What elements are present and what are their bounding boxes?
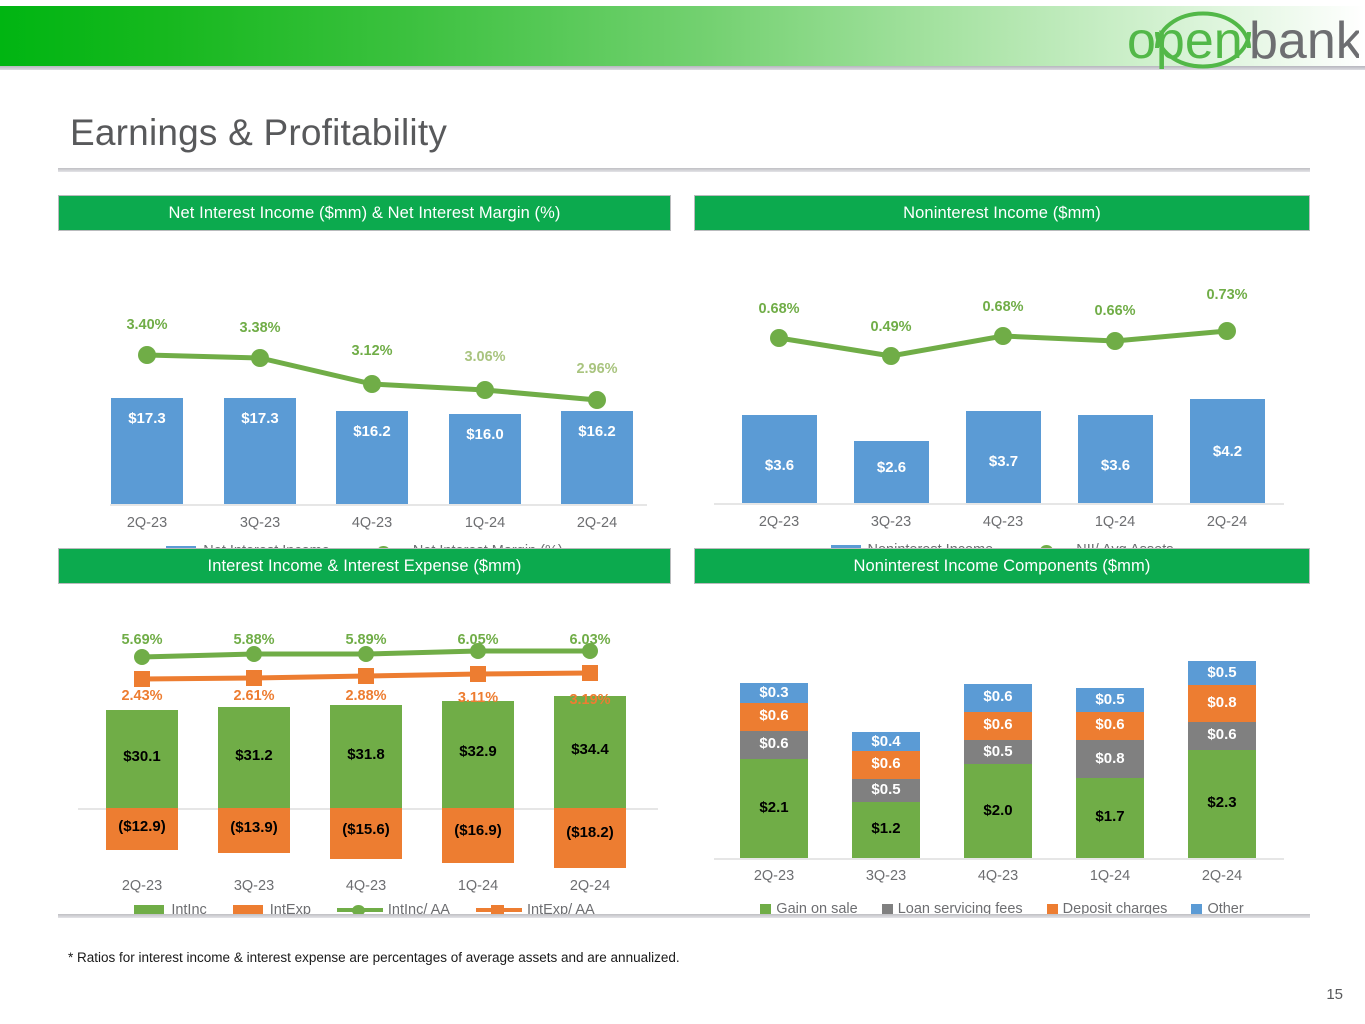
point-label-2Q-23: 0.68% [729, 301, 829, 317]
panel-net-interest-income: Net Interest Income ($mm) & Net Interest… [58, 195, 671, 535]
x-tick-2Q-23: 2Q-23 [724, 868, 824, 884]
nii-avg-assets-line-series [694, 231, 1310, 535]
intinc-aa-label-1Q-24: 6.05% [428, 632, 528, 648]
point-label-4Q-23: 0.68% [953, 299, 1053, 315]
intexp-aa-label-3Q-23: 2.61% [204, 688, 304, 704]
x-tick-4Q-23: 4Q-23 [948, 868, 1048, 884]
stack-4Q-23-loan-servicing-fees: $0.5 [964, 740, 1032, 764]
nim-line-series [58, 231, 671, 535]
x-tick-3Q-23: 3Q-23 [841, 514, 941, 530]
intinc-aa-label-2Q-23: 5.69% [92, 632, 192, 648]
point-label-2Q-24: 2.96% [547, 361, 647, 377]
chart-interest-income-expense: $30.1 $31.2 $31.8 $32.9 $34.4 ($12.9) [58, 584, 671, 898]
x-tick-2Q-24: 2Q-24 [1177, 514, 1277, 530]
panel-title-net-interest-income: Net Interest Income ($mm) & Net Interest… [58, 195, 671, 231]
page-title: Earnings & Profitability [70, 112, 447, 154]
stack-2Q-24-deposit-charges: $0.8 [1188, 685, 1256, 722]
point-label-1Q-24: 3.06% [435, 349, 535, 365]
stack-2Q-23-deposit-charges: $0.6 [740, 703, 808, 731]
page-number: 15 [1326, 986, 1343, 1003]
panel-title-noninterest-income: Noninterest Income ($mm) [694, 195, 1310, 231]
x-tick-2Q-24: 2Q-24 [540, 878, 640, 894]
x-tick-1Q-24: 1Q-24 [1060, 868, 1160, 884]
chart-noninterest-income-components: $2.1 $0.6 $0.6 $0.3 $1.2 $0.5 [694, 584, 1310, 898]
stack-1Q-24-gain-on-sale: $1.7 [1076, 778, 1144, 858]
stack-2Q-24-gain-on-sale: $2.3 [1188, 750, 1256, 858]
intexp-aa-label-1Q-24: 3.11% [428, 690, 528, 706]
point-label-2Q-24: 0.73% [1177, 287, 1277, 303]
stack-2Q-24-loan-servicing-fees: $0.6 [1188, 722, 1256, 750]
intexp-aa-label-2Q-24: 3.19% [540, 692, 640, 708]
stack-4Q-23-other: $0.6 [964, 684, 1032, 712]
x-tick-1Q-24: 1Q-24 [428, 878, 528, 894]
x-tick-3Q-23: 3Q-23 [210, 515, 310, 531]
stack-2Q-23-loan-servicing-fees: $0.6 [740, 731, 808, 759]
intinc-aa-label-4Q-23: 5.89% [316, 632, 416, 648]
x-tick-3Q-23: 3Q-23 [836, 868, 936, 884]
point-label-3Q-23: 0.49% [841, 319, 941, 335]
x-tick-1Q-24: 1Q-24 [1065, 514, 1165, 530]
point-label-4Q-23: 3.12% [322, 343, 422, 359]
stack-2Q-24-other: $0.5 [1188, 661, 1256, 685]
legend-swatch-square-icon [1047, 904, 1058, 915]
x-tick-4Q-23: 4Q-23 [953, 514, 1053, 530]
footer-divider [58, 914, 1310, 918]
stack-3Q-23-loan-servicing-fees: $0.5 [852, 779, 920, 802]
x-tick-2Q-23: 2Q-23 [92, 878, 192, 894]
footnote-text: * Ratios for interest income & interest … [68, 950, 680, 965]
x-tick-3Q-23: 3Q-23 [204, 878, 304, 894]
point-label-2Q-23: 3.40% [97, 317, 197, 333]
stack-2Q-23-gain-on-sale: $2.1 [740, 759, 808, 858]
x-tick-2Q-23: 2Q-23 [97, 515, 197, 531]
stack-1Q-24-other: $0.5 [1076, 688, 1144, 712]
point-label-3Q-23: 3.38% [210, 320, 310, 336]
x-tick-1Q-24: 1Q-24 [435, 515, 535, 531]
stack-3Q-23-gain-on-sale: $1.2 [852, 802, 920, 858]
stack-4Q-23-deposit-charges: $0.6 [964, 712, 1032, 740]
logo-open-text: open [1127, 12, 1243, 70]
slide-root: open bank Earnings & Profitability Net I… [0, 0, 1365, 1024]
x-axis-line [714, 858, 1284, 860]
x-tick-2Q-24: 2Q-24 [547, 515, 647, 531]
intinc-aa-label-3Q-23: 5.88% [204, 632, 304, 648]
logo-bank-text: bank [1249, 12, 1359, 70]
x-tick-4Q-23: 4Q-23 [316, 878, 416, 894]
stack-2Q-23-other: $0.3 [740, 683, 808, 703]
x-tick-4Q-23: 4Q-23 [322, 515, 422, 531]
chart-net-interest-income: $17.3 $17.3 $16.2 $16.0 $16.2 [58, 231, 671, 535]
stack-3Q-23-other: $0.4 [852, 732, 920, 751]
title-divider [58, 168, 1310, 172]
panel-interest-income-expense: Interest Income & Interest Expense ($mm)… [58, 548, 671, 898]
intexp-aa-label-4Q-23: 2.88% [316, 688, 416, 704]
stack-1Q-24-loan-servicing-fees: $0.8 [1076, 740, 1144, 778]
legend-swatch-square-icon [1191, 904, 1202, 915]
legend-swatch-square-icon [882, 904, 893, 915]
x-tick-2Q-23: 2Q-23 [729, 514, 829, 530]
legend-swatch-square-icon [760, 904, 771, 915]
stack-1Q-24-deposit-charges: $0.6 [1076, 712, 1144, 740]
openbank-logo: open bank [1099, 4, 1359, 76]
panel-noninterest-income: Noninterest Income ($mm) $3.6 $2.6 $3.7 … [694, 195, 1310, 535]
panel-noninterest-income-components: Noninterest Income Components ($mm) $2.1… [694, 548, 1310, 898]
stack-3Q-23-deposit-charges: $0.6 [852, 751, 920, 779]
x-tick-2Q-24: 2Q-24 [1172, 868, 1272, 884]
point-label-1Q-24: 0.66% [1065, 303, 1165, 319]
panel-title-interest-income-expense: Interest Income & Interest Expense ($mm) [58, 548, 671, 584]
stack-4Q-23-gain-on-sale: $2.0 [964, 764, 1032, 858]
intinc-aa-label-2Q-24: 6.03% [540, 632, 640, 648]
chart-noninterest-income: $3.6 $2.6 $3.7 $3.6 $4.2 [694, 231, 1310, 535]
intexp-aa-label-2Q-23: 2.43% [92, 688, 192, 704]
panel-title-noninterest-income-components: Noninterest Income Components ($mm) [694, 548, 1310, 584]
